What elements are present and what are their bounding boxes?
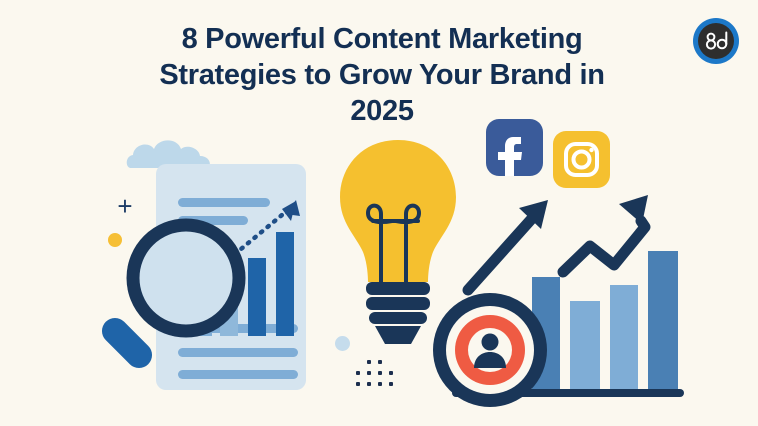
- growth-arrow-straight: [468, 200, 548, 290]
- facebook-icon[interactable]: [486, 119, 543, 176]
- banner-canvas: 8 Powerful Content Marketing Strategies …: [0, 0, 758, 426]
- instagram-icon[interactable]: [553, 131, 610, 188]
- audience-target: [433, 293, 547, 407]
- growth-arrow-zigzag: [563, 195, 648, 272]
- illustration-group: [0, 0, 758, 426]
- lightbulb-base: [366, 282, 430, 344]
- idea-lightbulb: [340, 140, 456, 344]
